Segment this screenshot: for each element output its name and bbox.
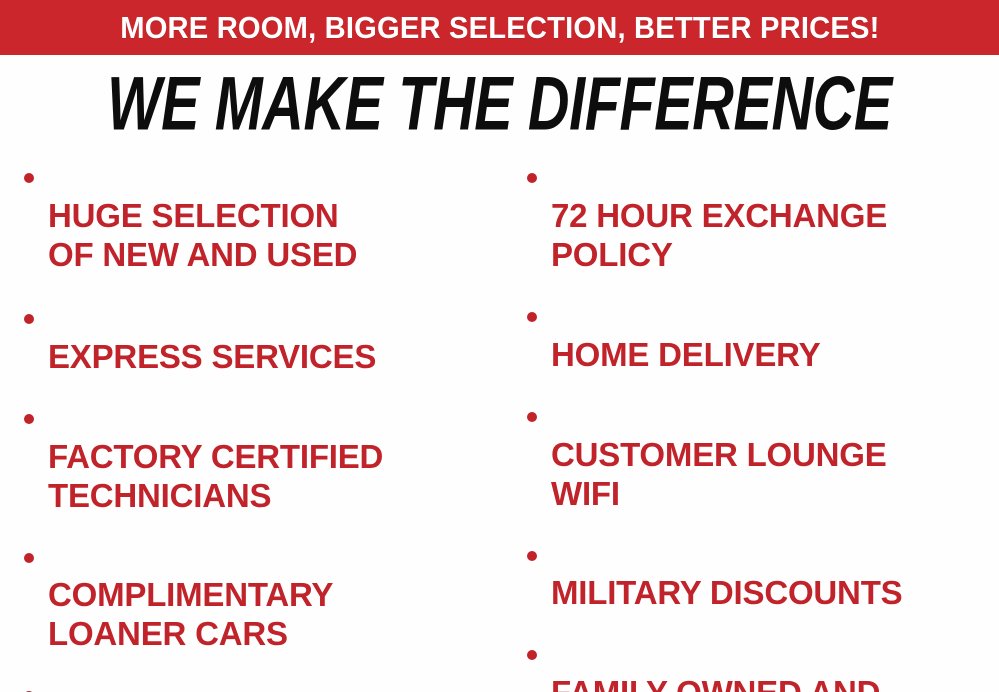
list-item: HUGE SELECTION OF NEW AND USED: [8, 158, 500, 275]
benefits-column-left: HUGE SELECTION OF NEW AND USED EXPRESS S…: [8, 158, 500, 692]
banner-headline-text: MORE ROOM, BIGGER SELECTION, BETTER PRIC…: [120, 12, 879, 43]
list-item: CUSTOMER LOUNGE WIFI: [508, 397, 999, 514]
list-item-label: MILITARY DISCOUNTS: [551, 574, 902, 611]
list-item: 72 HOUR EXCHANGE POLICY: [508, 158, 999, 275]
list-item-label: EXPRESS SERVICES: [48, 338, 376, 375]
list-item-label: CUSTOMER LOUNGE WIFI: [551, 436, 887, 512]
top-banner: MORE ROOM, BIGGER SELECTION, BETTER PRIC…: [0, 0, 999, 55]
list-item-label: FACTORY CERTIFIED TECHNICIANS: [48, 438, 383, 514]
list-item-label: 72 HOUR EXCHANGE POLICY: [551, 197, 887, 273]
list-item-label: HOME DELIVERY: [551, 336, 820, 373]
main-headline: WE MAKE THE DIFFERENCE: [0, 66, 999, 138]
benefits-columns: HUGE SELECTION OF NEW AND USED EXPRESS S…: [0, 158, 999, 692]
list-item: EXPRESS SERVICES: [8, 299, 500, 377]
list-item-label: HUGE SELECTION OF NEW AND USED: [48, 197, 357, 273]
list-item: HOME DELIVERY: [508, 297, 999, 375]
list-item: COMPLIMENTARY LOANER CARS: [8, 538, 500, 655]
list-item: COMPLIMENTARY SHUTTLE SERVICE: [8, 676, 500, 692]
list-item-label: FAMILY OWNED AND OPERATED: [551, 674, 880, 692]
list-item: MILITARY DISCOUNTS: [508, 536, 999, 614]
list-item-label: COMPLIMENTARY LOANER CARS: [48, 576, 333, 652]
list-item: FACTORY CERTIFIED TECHNICIANS: [8, 399, 500, 516]
benefits-column-right: 72 HOUR EXCHANGE POLICY HOME DELIVERY CU…: [508, 158, 999, 692]
main-headline-text: WE MAKE THE DIFFERENCE: [107, 66, 892, 142]
promotional-poster: MORE ROOM, BIGGER SELECTION, BETTER PRIC…: [0, 0, 999, 692]
list-item: FAMILY OWNED AND OPERATED: [508, 635, 999, 692]
